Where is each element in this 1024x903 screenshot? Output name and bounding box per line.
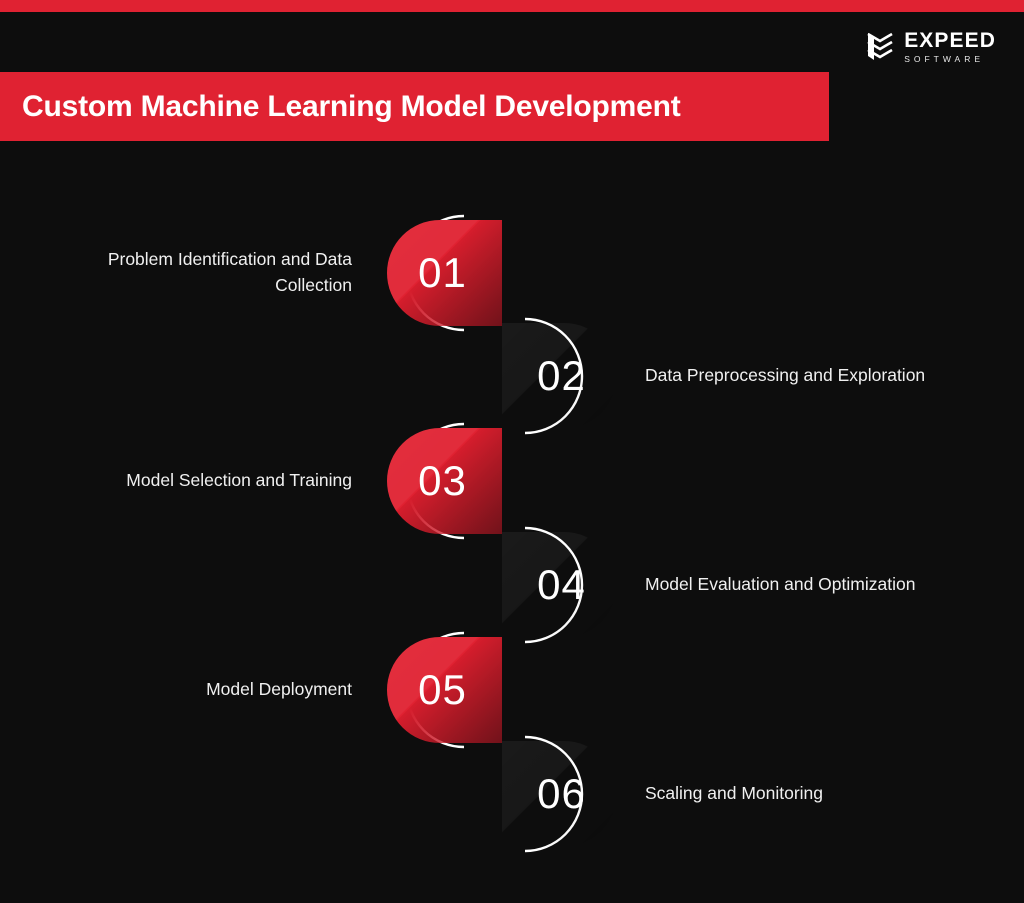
step-label-04: Model Evaluation and Optimization [645,532,945,638]
step-number-04: 04 [502,532,617,638]
step-pill-05: 05 [387,637,502,743]
step-pill-06: 06 [502,741,617,847]
step-pill-04: 04 [502,532,617,638]
step-number-06: 06 [502,741,617,847]
step-label-01: Problem Identification and Data Collecti… [92,220,352,326]
step-number-01: 01 [387,220,502,326]
process-step-02: Data Preprocessing and Exploration 02 [0,323,1024,429]
process-step-03: Model Selection and Training 03 [0,428,1024,534]
step-pill-02: 02 [502,323,617,429]
process-step-04: Model Evaluation and Optimization 04 [0,532,1024,638]
infographic-page: EXPEED SOFTWARE Custom Machine Learning … [0,0,1024,903]
process-steps-list: Problem Identification and Data Collecti… [0,0,1024,903]
step-label-03: Model Selection and Training [92,428,352,534]
process-step-06: Scaling and Monitoring 06 [0,741,1024,847]
step-label-06: Scaling and Monitoring [645,741,945,847]
process-step-05: Model Deployment 05 [0,637,1024,743]
step-label-05: Model Deployment [92,637,352,743]
step-label-02: Data Preprocessing and Exploration [645,323,945,429]
step-pill-01: 01 [387,220,502,326]
process-step-01: Problem Identification and Data Collecti… [0,220,1024,326]
step-number-02: 02 [502,323,617,429]
step-number-03: 03 [387,428,502,534]
step-pill-03: 03 [387,428,502,534]
step-number-05: 05 [387,637,502,743]
